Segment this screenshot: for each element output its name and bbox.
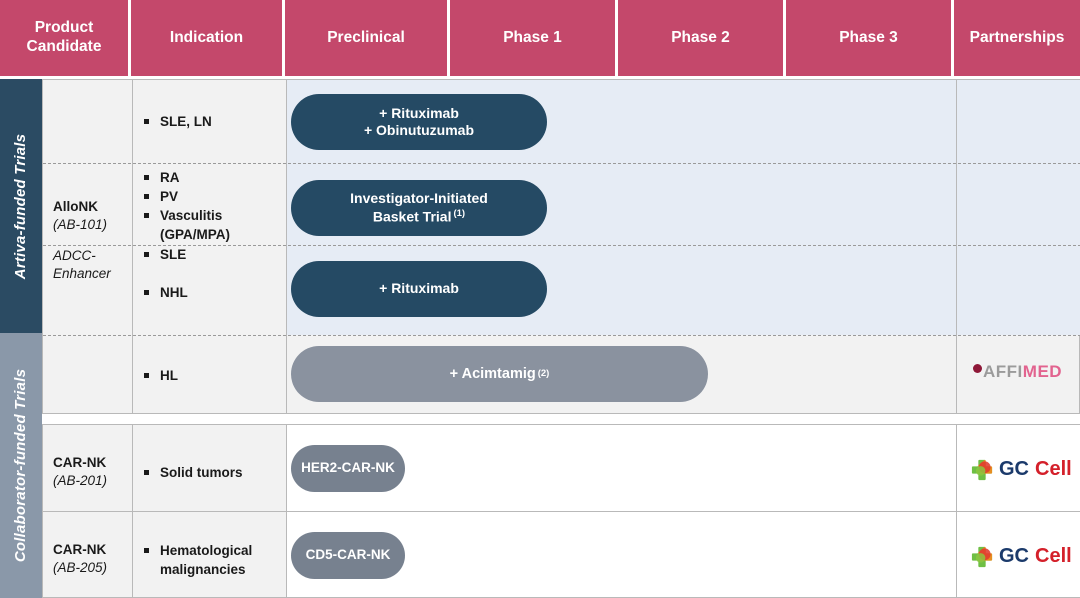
trial-bar-cd5-car-nk[interactable]: CD5-CAR-NK [291, 532, 405, 579]
product-allonk-name: AlloNK [53, 198, 132, 216]
indication-item-line2: malignancies [160, 562, 246, 577]
gc-cell-text-part1: GC [999, 458, 1029, 481]
gc-cell-text-part2: Cell [1035, 458, 1072, 481]
affimed-dot-icon [973, 364, 982, 373]
trial-bar-acimtamig[interactable]: + Acimtamig(2) [291, 346, 708, 402]
product-carnk-205-code: (AB-205) [53, 559, 132, 577]
indication-item: SLE, LN [140, 112, 286, 131]
product-allonk-sub-line2: Enhancer [53, 265, 132, 283]
indication-item: HL [140, 366, 286, 385]
gc-cell-cross-icon [971, 459, 993, 481]
trial-bar-line1: + Rituximab [364, 105, 474, 123]
partner-logo-affimed: AFFI MED [973, 362, 1062, 382]
indication-row-2: RA PV Vasculitis (GPA/MPA) SLE [140, 168, 286, 264]
header-product-line2: Candidate [27, 38, 102, 57]
column-divider-partnerships [956, 80, 957, 413]
indication-item: Solid tumors [140, 463, 286, 482]
indication-row-3: NHL [140, 283, 286, 302]
indication-row-6: Hematological malignancies [140, 541, 286, 579]
indication-item: Hematological malignancies [140, 541, 286, 579]
row-divider-3 [43, 335, 1080, 336]
affimed-text-part2: MED [1023, 362, 1062, 382]
rail-collaborator-label: Collaborator-funded Trials [13, 369, 30, 562]
indication-item: RA [140, 168, 286, 187]
gc-cell-text-part1: GC [999, 545, 1029, 568]
product-carnk-201-code: (AB-201) [53, 472, 132, 490]
gc-cell-cross-icon [971, 546, 993, 568]
trial-bar-rituximab-obinutuzumab[interactable]: + Rituximab + Obinutuzumab [291, 94, 547, 150]
header-indication: Indication [131, 0, 285, 76]
product-allonk-sub-line1: ADCC- [53, 247, 132, 265]
column-divider-indication [286, 80, 287, 413]
column-divider-product [132, 80, 133, 413]
indication-row-4: HL [140, 366, 286, 385]
indication-row-1: SLE, LN [140, 112, 286, 131]
header-preclinical: Preclinical [285, 0, 450, 76]
table-header: Product Candidate Indication Preclinical… [0, 0, 1080, 76]
header-phase-2: Phase 2 [618, 0, 786, 76]
header-product-candidate: Product Candidate [0, 0, 131, 76]
header-phase-3: Phase 3 [786, 0, 954, 76]
indication-item: SLE [140, 245, 286, 264]
product-allonk: AlloNK (AB-101) ADCC- Enhancer [43, 198, 132, 282]
header-partnerships: Partnerships [954, 0, 1080, 76]
trial-bar-her2-car-nk[interactable]: HER2-CAR-NK [291, 445, 405, 492]
trial-bar-line1: CD5-CAR-NK [306, 547, 391, 564]
header-phase-1: Phase 1 [450, 0, 618, 76]
rail-artiva-label: Artiva-funded Trials [13, 133, 30, 278]
trial-bar-line2-text: Basket Trial [373, 208, 452, 224]
product-carnk-205-name: CAR-NK [53, 541, 132, 559]
product-carnk-201-name: CAR-NK [53, 454, 132, 472]
pipeline-table-artiva: AlloNK (AB-101) ADCC- Enhancer SLE, LN R… [42, 79, 1080, 414]
row-divider-1 [43, 163, 1080, 164]
product-carnk-201: CAR-NK (AB-201) [43, 454, 132, 489]
rail-collaborator-funded-trials: Collaborator-funded Trials [0, 333, 42, 598]
rail-artiva-funded-trials: Artiva-funded Trials [0, 79, 42, 333]
indication-item: PV [140, 187, 286, 206]
trial-bar-line1: + Rituximab [379, 280, 459, 298]
header-product-line1: Product [27, 19, 102, 38]
indication-item: Vasculitis (GPA/MPA) [140, 206, 286, 244]
pipeline-table-collaborator: CAR-NK (AB-201) Solid tumors HER2-CAR-NK… [42, 424, 1080, 598]
gc-cell-text-part2: Cell [1035, 545, 1072, 568]
footnote-marker-2: (2) [538, 368, 550, 380]
trial-bar-line1: + Acimtamig [450, 365, 536, 383]
indication-item-line2: (GPA/MPA) [160, 227, 230, 242]
footnote-marker-1: (1) [453, 208, 465, 219]
partner-logo-gc-cell: GC Cell [971, 545, 1072, 568]
indication-item-line1: Vasculitis [160, 208, 222, 223]
trial-bar-line2: + Obinutuzumab [364, 122, 474, 140]
indication-row-5: Solid tumors [140, 463, 286, 482]
row-divider-5 [43, 511, 1080, 512]
trial-bar-line1: Investigator-Initiated [350, 190, 488, 208]
trial-bar-line2: Basket Trial(1) [350, 208, 488, 226]
affimed-text-part1: AFFI [983, 362, 1023, 382]
indication-item: NHL [140, 283, 286, 302]
product-carnk-205: CAR-NK (AB-205) [43, 541, 132, 576]
trial-bar-line1: HER2-CAR-NK [301, 460, 395, 477]
product-allonk-code: (AB-101) [53, 216, 132, 234]
trial-bar-rituximab[interactable]: + Rituximab [291, 261, 547, 317]
trial-bar-investigator-initiated-basket-trial[interactable]: Investigator-Initiated Basket Trial(1) [291, 180, 547, 236]
partner-logo-gc-cell: GC Cell [971, 458, 1072, 481]
indication-item-line1: Hematological [160, 543, 252, 558]
pipeline-chart: Product Candidate Indication Preclinical… [0, 0, 1080, 598]
